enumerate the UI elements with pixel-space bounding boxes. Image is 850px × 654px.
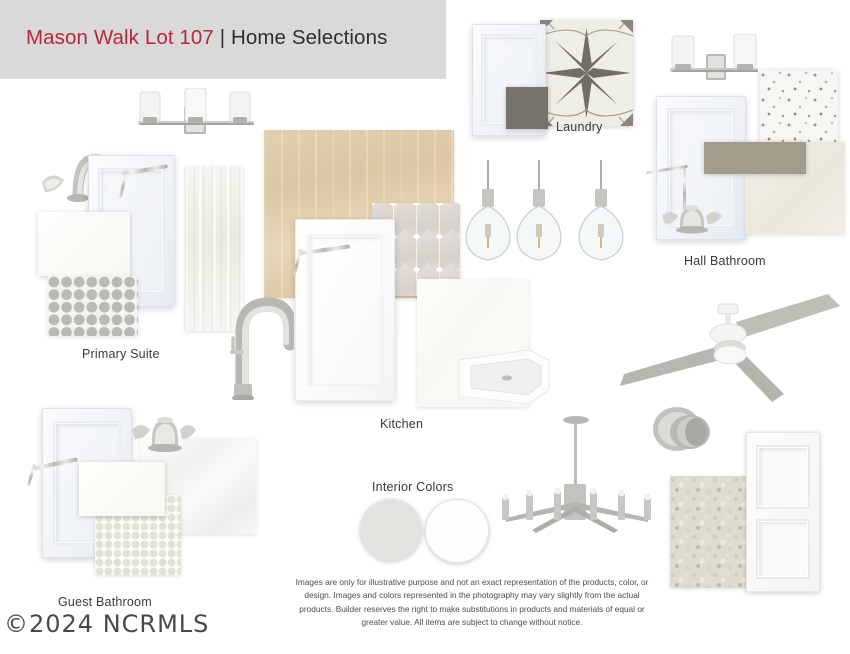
cabinet-pull-guest-stem: [27, 464, 36, 486]
pendant-light: [575, 160, 627, 268]
section-label-interior-colors: Interior Colors: [372, 480, 454, 494]
penny-mosaic-gray: [48, 276, 138, 336]
greige-paint-swatch: [360, 499, 422, 561]
farmhouse-sink: [455, 346, 551, 408]
guest-faucet: [128, 404, 198, 452]
star-tile-svg: [540, 20, 633, 126]
section-label-laundry: Laundry: [556, 120, 603, 134]
section-label-guest-bathroom: Guest Bathroom: [58, 595, 152, 609]
gray-paint-swatch: [506, 87, 548, 129]
page-title: Mason Walk Lot 107 | Home Selections: [26, 26, 387, 50]
page-title-separator: |: [214, 26, 231, 49]
carpet-sample: [670, 476, 746, 588]
pendant-light: [462, 160, 514, 268]
door-knob: [652, 405, 714, 457]
section-label-hall-bathroom: Hall Bathroom: [684, 254, 766, 268]
section-label-primary-suite: Primary Suite: [82, 347, 160, 361]
guest-countertop: [79, 462, 165, 516]
page-title-highlight: Mason Walk Lot 107: [26, 26, 214, 49]
copyright-watermark: ©2024 NCRMLS: [4, 610, 209, 638]
speckled-countertop: [760, 70, 838, 142]
vanity-light-2-bulb: [662, 34, 766, 90]
ceiling-fan: [608, 282, 846, 406]
door-panel-top: [756, 445, 810, 509]
vanity-light-3-bulb: [134, 88, 258, 146]
gooseneck-faucet: [228, 288, 294, 400]
countertop-white: [38, 212, 130, 276]
page-title-rest: Home Selections: [231, 26, 387, 49]
disclaimer-text: Images are only for illustrative purpose…: [290, 576, 654, 630]
chandelier: [498, 412, 660, 536]
star-pattern-tile: [540, 20, 633, 126]
white-paint-swatch: [425, 499, 489, 563]
pendant-light: [513, 160, 565, 268]
selection-board: Mason Walk Lot 107 | Home Selections: [0, 0, 850, 654]
centerset-faucet: [660, 194, 724, 234]
door-panel-bottom: [756, 519, 810, 579]
taupe-accent-bar: [704, 142, 806, 174]
interior-door: [746, 432, 820, 592]
section-label-kitchen: Kitchen: [380, 417, 423, 431]
